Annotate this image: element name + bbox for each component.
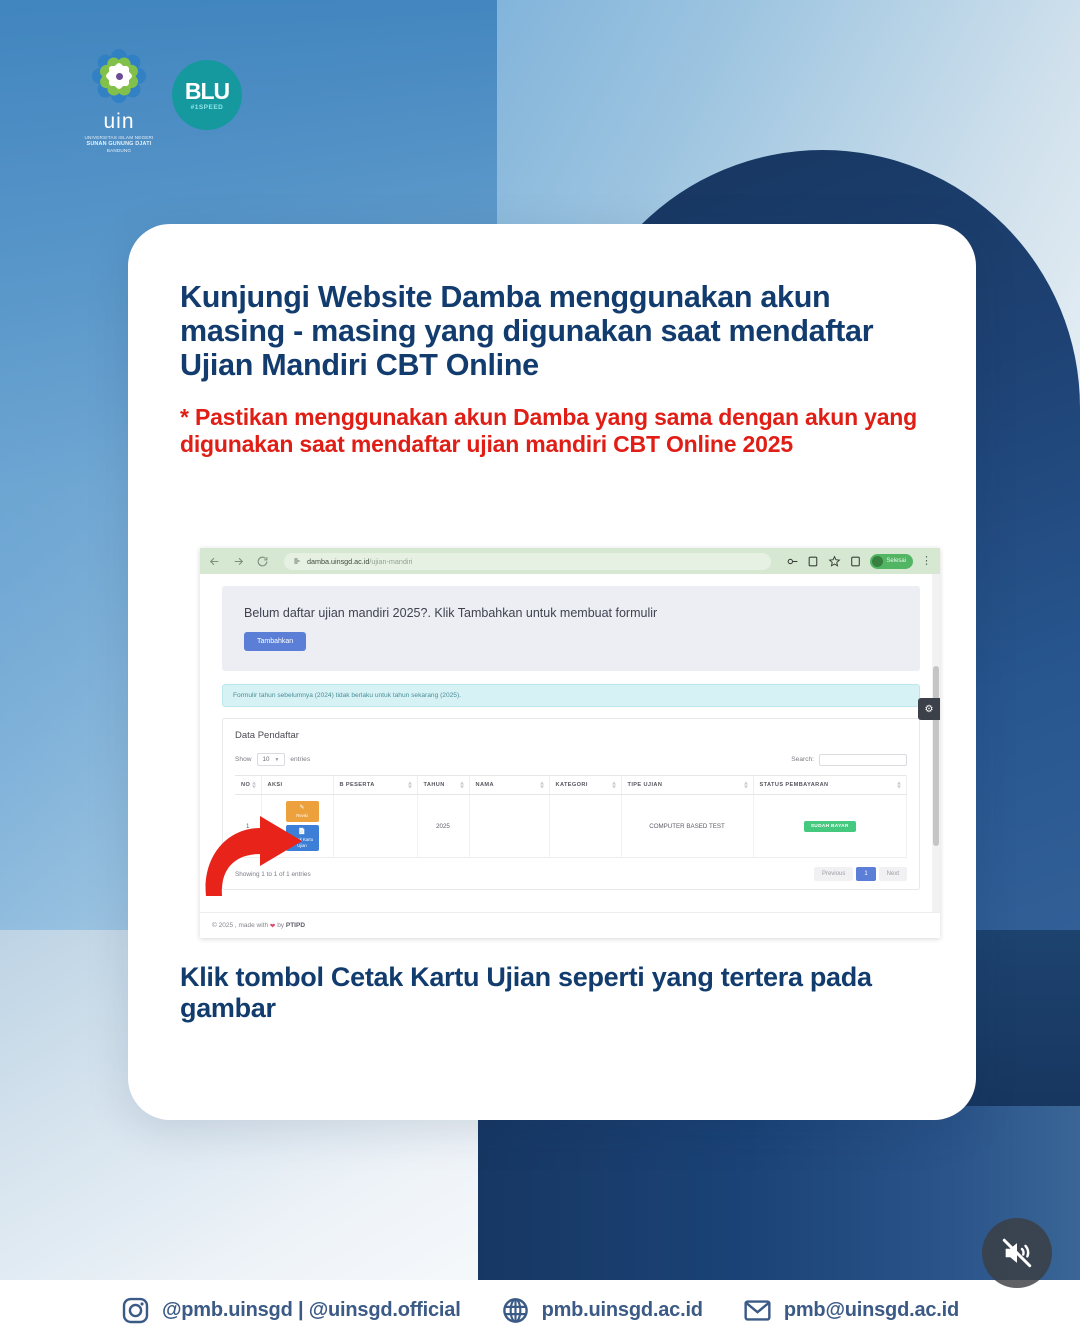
pagination: Previous 1 Next [814,867,907,881]
column-header-nama[interactable]: NAMA [469,776,549,795]
data-pendaftar-panel: Data Pendaftar Show 10 ▼ entries Search: [222,718,920,890]
sort-icon [612,782,616,789]
status-badge: SUDAH BAYAR [804,821,856,832]
uin-wordmark: uin [84,110,154,134]
entries-value: 10 [263,756,270,763]
cell-tipe-ujian: COMPUTER BASED TEST [621,795,753,858]
tracking-protection-icon[interactable] [786,555,799,568]
scrollbar-thumb[interactable] [933,666,939,846]
contact-email[interactable]: pmb@uinsgd.ac.id [743,1296,959,1325]
page-scrollbar[interactable] [932,574,940,938]
registration-prompt-text: Belum daftar ujian mandiri 2025?. Klik T… [244,606,898,620]
sort-icon [744,782,748,789]
table-header-row: NO AKSI B PESERTA TAHUN NAMA KATEGORI TI… [235,776,907,795]
chevron-down-icon: ▼ [274,757,279,763]
instagram-handles: @pmb.uinsgd | @uinsgd.official [162,1299,461,1322]
sort-icon [897,782,901,789]
blu-logo: BLU #1SPEED [172,60,242,130]
globe-icon [501,1296,530,1325]
pendaftar-table: NO AKSI B PESERTA TAHUN NAMA KATEGORI TI… [235,775,907,858]
email-address: pmb@uinsgd.ac.id [784,1299,959,1322]
cell-kategori [549,795,621,858]
browser-toolbar: damba.uinsgd.ac.id/ujian-mandiri Selesai… [200,548,940,574]
entries-label: entries [290,756,310,763]
split-screen-icon[interactable] [849,555,862,568]
gear-icon[interactable]: ⚙ [918,698,940,720]
uin-subtitle: UNIVERSITAS ISLAM NEGERI SUNAN GUNUNG DJ… [84,135,154,155]
mute-button[interactable] [982,1218,1052,1288]
reload-icon[interactable] [256,555,269,568]
column-header-tahun[interactable]: TAHUN [417,776,469,795]
url-path: /ujian-mandiri [369,557,412,566]
table-row: 1 ✎Revisi 📄Cetak Kartu Ujian 2025 [235,795,907,858]
show-label: Show [235,756,252,763]
pagination-next[interactable]: Next [879,867,907,881]
sort-icon [460,782,464,789]
entries-select[interactable]: 10 ▼ [257,753,286,766]
address-bar-text: damba.uinsgd.ac.id/ujian-mandiri [307,557,413,566]
page-content: Belum daftar ujian mandiri 2025?. Klik T… [200,574,940,890]
tambahkan-button[interactable]: Tambahkan [244,632,306,651]
search-label: Search: [791,756,814,763]
star-icon[interactable] [828,555,841,568]
browser-toolbar-actions: Selesai ⋮ [786,554,932,569]
search-control: Search: [791,754,907,766]
uin-emblem-icon [88,45,150,107]
footer-by: by [277,922,284,929]
registration-prompt-panel: Belum daftar ujian mandiri 2025?. Klik T… [222,586,920,671]
uin-subtitle-line3: BANDUNG [107,148,131,153]
column-header-tipe-ujian[interactable]: TIPE UJIAN [621,776,753,795]
instagram-icon [121,1296,150,1325]
address-bar[interactable]: damba.uinsgd.ac.id/ujian-mandiri [284,553,771,570]
instruction-footline: Klik tombol Cetak Kartu Ujian seperti ya… [180,962,880,1024]
browser-nav-buttons [208,555,269,568]
pagination-previous[interactable]: Previous [814,867,853,881]
arrow-left-icon[interactable] [208,555,221,568]
sort-icon [408,782,412,789]
sort-icon [252,782,256,789]
search-input[interactable] [819,754,907,766]
site-settings-icon[interactable] [293,557,301,565]
avatar [872,556,883,567]
contact-instagram[interactable]: @pmb.uinsgd | @uinsgd.official [121,1296,461,1325]
envelope-icon [743,1296,772,1325]
sort-icon [540,782,544,789]
cell-tahun: 2025 [417,795,469,858]
speaker-muted-icon [1000,1236,1034,1270]
table-head: NO AKSI B PESERTA TAHUN NAMA KATEGORI TI… [235,776,907,795]
heart-icon: ❤ [270,922,275,930]
uin-logo: uin UNIVERSITAS ISLAM NEGERI SUNAN GUNUN… [84,45,154,155]
panel-title: Data Pendaftar [235,730,907,753]
logo-group: uin UNIVERSITAS ISLAM NEGERI SUNAN GUNUN… [84,45,242,155]
cell-status-pembayaran: SUDAH BAYAR [753,795,907,858]
profile-chip[interactable]: Selesai [870,554,913,569]
headline: Kunjungi Website Damba menggunakan akun … [180,280,924,382]
table-controls: Show 10 ▼ entries Search: [235,753,907,766]
footer-org: PTIPD [286,922,305,929]
info-alert: Formulir tahun sebelumnya (2024) tidak b… [222,684,920,707]
browser-viewport: ⚙ Belum daftar ujian mandiri 2025?. Klik… [200,574,940,938]
arrow-right-icon[interactable] [232,555,245,568]
contact-website[interactable]: pmb.uinsgd.ac.id [501,1296,703,1325]
footer-copyright: © 2025 , made with [212,922,268,929]
extensions-icon[interactable] [807,555,820,568]
column-header-kategori[interactable]: KATEGORI [549,776,621,795]
cell-b-peserta [333,795,417,858]
cell-nama [469,795,549,858]
warning-note: * Pastikan menggunakan akun Damba yang s… [180,404,924,457]
column-header-status-pembayaran[interactable]: STATUS PEMBAYARAN [753,776,907,795]
website-url: pmb.uinsgd.ac.id [542,1299,703,1322]
url-domain: damba.uinsgd.ac.id [307,557,369,566]
column-header-b-peserta[interactable]: B PESERTA [333,776,417,795]
three-dots-icon[interactable]: ⋮ [921,558,932,564]
red-arrow-annotation [198,812,308,902]
column-header-aksi[interactable]: AKSI [261,776,333,795]
blu-tagline: #1SPEED [191,104,224,111]
pagination-page-1[interactable]: 1 [856,867,875,881]
blu-wordmark: BLU [185,80,229,103]
entries-control: Show 10 ▼ entries [235,753,310,766]
uin-subtitle-line2: SUNAN GUNUNG DJATI [84,141,154,148]
site-footer: © 2025 , made with ❤ by PTIPD [200,912,940,938]
pencil-icon: ✎ [287,804,318,812]
contact-bar: @pmb.uinsgd | @uinsgd.official pmb.uinsg… [0,1280,1080,1340]
column-header-no[interactable]: NO [235,776,261,795]
profile-label: Selesai [886,558,906,564]
table-footer: Showing 1 to 1 of 1 entries Previous 1 N… [235,867,907,881]
browser-screenshot: damba.uinsgd.ac.id/ujian-mandiri Selesai… [200,548,940,938]
table-body: 1 ✎Revisi 📄Cetak Kartu Ujian 2025 [235,795,907,858]
uin-subtitle-line1: UNIVERSITAS ISLAM NEGERI [84,135,153,140]
